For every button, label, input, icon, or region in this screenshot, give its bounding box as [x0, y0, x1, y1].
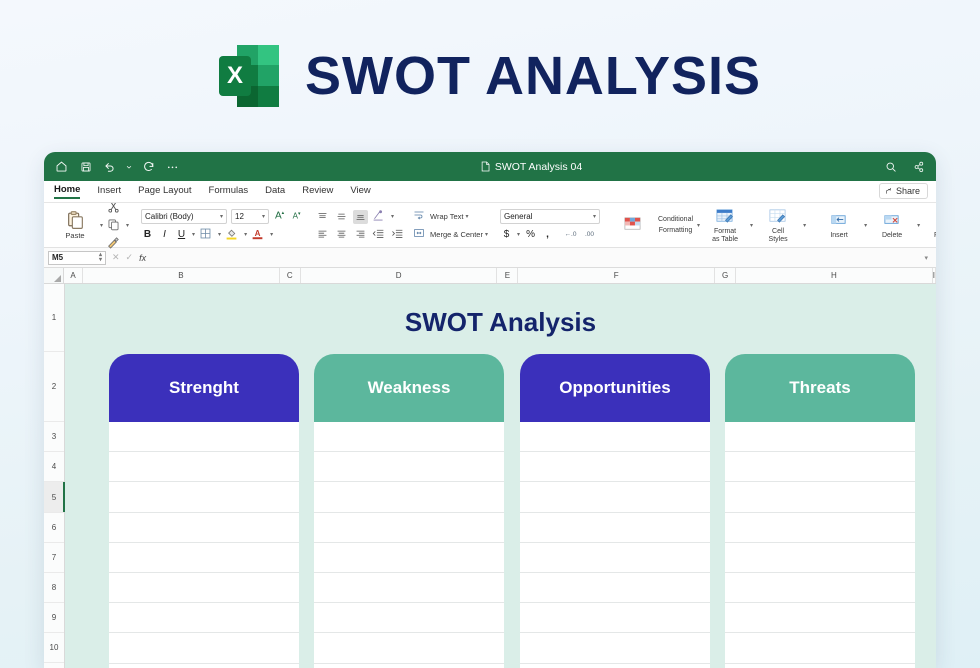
swot-card-strength[interactable]: Strenght — [109, 354, 299, 668]
tab-page-layout[interactable]: Page Layout — [138, 185, 191, 198]
tab-formulas[interactable]: Formulas — [209, 185, 249, 198]
wrap-text-label: Wrap Text — [430, 212, 464, 221]
currency-button[interactable]: $ — [500, 229, 513, 240]
swot-line[interactable] — [520, 513, 710, 543]
title-bar: SWOT Analysis 04 — [44, 152, 936, 181]
swot-line[interactable] — [725, 513, 915, 543]
name-box[interactable]: M5 ▴▾ — [48, 251, 106, 265]
row-header-5[interactable]: 5 — [44, 482, 64, 513]
delete-cells-label: Delete — [882, 232, 902, 240]
column-header-b[interactable]: B — [83, 268, 280, 283]
insert-cells-chevron-down-icon[interactable]: ▾ — [864, 222, 867, 229]
format-cells-icon — [935, 211, 936, 232]
merge-center-button[interactable]: Merge & Center ▾ — [413, 227, 488, 242]
swot-card-threats-lines[interactable] — [725, 422, 915, 668]
share-button[interactable]: Share — [879, 183, 928, 199]
swot-line[interactable] — [109, 573, 299, 603]
indent-row — [372, 227, 406, 242]
number-format-select[interactable]: General ▾ — [500, 209, 600, 224]
redo-icon[interactable] — [141, 159, 156, 174]
font-family-select[interactable]: Calibri (Body) ▾ — [141, 209, 227, 224]
name-box-value: M5 — [52, 253, 63, 262]
font-controls: Calibri (Body) ▾ 12 ▾ A▴ A▾ B I U ▾ — [141, 209, 303, 242]
conditional-formatting-chevron-down-icon[interactable]: ▾ — [697, 222, 700, 229]
svg-text:A: A — [255, 228, 261, 237]
svg-text:X: X — [227, 62, 243, 89]
tab-data[interactable]: Data — [265, 185, 285, 198]
orientation-icon[interactable] — [372, 209, 387, 224]
insert-cells-icon — [829, 211, 850, 232]
cancel-formula-button[interactable]: ✕ — [112, 252, 120, 263]
row-header-7[interactable]: 7 — [44, 543, 64, 573]
increase-indent-icon[interactable] — [391, 227, 406, 242]
conditional-formatting-label-1: Conditional — [658, 216, 693, 224]
wrap-text-icon — [413, 209, 428, 224]
wrap-text-button[interactable]: Wrap Text ▾ — [413, 209, 488, 224]
copy-chevron-down-icon[interactable]: ▾ — [126, 222, 129, 229]
tab-review[interactable]: Review — [302, 185, 333, 198]
swot-line[interactable] — [109, 452, 299, 482]
row-header-9[interactable]: 9 — [44, 603, 64, 633]
bottom-align-button[interactable] — [353, 210, 368, 224]
tab-insert[interactable]: Insert — [97, 185, 121, 198]
swot-line[interactable] — [725, 543, 915, 573]
orientation-indent: ▾ — [372, 209, 406, 242]
cell-styles-chevron-down-icon[interactable]: ▾ — [803, 222, 806, 229]
font-bottom-row: B I U ▾ ▾ ▾ — [141, 227, 303, 242]
swot-line[interactable] — [314, 482, 504, 512]
swot-card-threats-header: Threats — [725, 354, 915, 422]
delete-cells-chevron-down-icon[interactable]: ▾ — [917, 222, 920, 229]
excel-window: SWOT Analysis 04 Home Insert Page Layout… — [44, 152, 936, 668]
formula-bar-expand-chevron-down-icon[interactable]: ▾ — [924, 254, 932, 262]
copy-row: ▾ — [107, 218, 129, 233]
column-header-e[interactable]: E — [497, 268, 518, 283]
top-align-button[interactable] — [315, 210, 330, 224]
ribbon-group-number: General ▾ $ ▾ % , ←.0 .00 — [494, 205, 606, 245]
share-label: Share — [896, 186, 920, 196]
align-right-button[interactable] — [353, 227, 368, 241]
ribbon-group-alignment: ▾ Wrap Text ▾ — [309, 205, 494, 245]
tab-view[interactable]: View — [350, 185, 370, 198]
column-header-d[interactable]: D — [301, 268, 498, 283]
document-title: SWOT Analysis 04 — [495, 161, 582, 173]
fill-color-chevron-down-icon[interactable]: ▾ — [244, 231, 247, 238]
formula-bar: M5 ▴▾ ✕ ✓ fx ▾ — [44, 248, 936, 268]
font-color-chevron-down-icon[interactable]: ▾ — [270, 231, 273, 238]
conditional-formatting-icon — [623, 215, 644, 236]
swot-line[interactable] — [520, 422, 710, 452]
swot-card-weakness-lines[interactable] — [314, 422, 504, 668]
italic-button[interactable]: I — [158, 229, 171, 240]
undo-chevron-down-icon[interactable] — [126, 159, 132, 174]
cell-styles-label-2: Styles — [769, 236, 788, 244]
more-icon[interactable] — [165, 159, 180, 174]
cell-styles-icon — [768, 207, 789, 228]
grid-body: 1 2 3 4 5 6 7 8 9 10 SWOT Analysis Stren… — [44, 284, 936, 668]
swot-card-strength-lines[interactable] — [109, 422, 299, 668]
font-top-row: Calibri (Body) ▾ 12 ▾ A▴ A▾ — [141, 209, 303, 224]
swot-sheet-title: SWOT Analysis — [65, 307, 936, 338]
paste-label: Paste — [65, 231, 84, 240]
swot-card-strength-header: Strenght — [109, 354, 299, 422]
wrap-merge: Wrap Text ▾ Merge & Center ▾ — [413, 209, 488, 242]
document-title-area: SWOT Analysis 04 — [180, 161, 883, 173]
column-header-h[interactable]: H — [736, 268, 933, 283]
row-header-1[interactable]: 1 — [44, 284, 64, 352]
wrap-text-chevron-down-icon: ▾ — [466, 213, 469, 220]
save-icon[interactable] — [78, 159, 93, 174]
swot-line[interactable] — [314, 573, 504, 603]
vertical-align-row — [315, 210, 368, 224]
ribbon-group-styles: Conditional Formatting ▾ Format as Table… — [606, 205, 812, 245]
increase-decimal-icon[interactable]: ←.0 — [564, 227, 579, 242]
clipboard-small-buttons: ▾ — [107, 200, 129, 251]
worksheet-canvas[interactable]: SWOT Analysis Strenght Weakness — [65, 284, 936, 668]
ribbon-group-font: Calibri (Body) ▾ 12 ▾ A▴ A▾ B I U ▾ — [135, 205, 309, 245]
number-format-value: General — [504, 212, 532, 221]
svg-text:.00: .00 — [585, 230, 594, 237]
ribbon: Paste ▾ ▾ — [44, 203, 936, 248]
format-painter-icon[interactable] — [107, 236, 122, 251]
conditional-formatting-button[interactable] — [612, 215, 654, 236]
swot-line[interactable] — [520, 633, 710, 663]
merge-center-label: Merge & Center — [430, 230, 483, 239]
row-header-8[interactable]: 8 — [44, 573, 64, 603]
font-size-chevron-down-icon: ▾ — [262, 213, 265, 220]
insert-cells-label: Insert — [830, 232, 848, 240]
font-size-select[interactable]: 12 ▾ — [231, 209, 269, 224]
row-header-6[interactable]: 6 — [44, 513, 64, 543]
column-header-i[interactable]: I — [933, 268, 936, 283]
paste-button[interactable]: Paste — [54, 210, 96, 240]
number-controls: General ▾ $ ▾ % , ←.0 .00 — [500, 209, 600, 242]
quick-access-toolbar — [54, 159, 180, 174]
search-icon[interactable] — [883, 159, 898, 174]
format-as-table-button[interactable]: Format as Table — [704, 207, 746, 244]
increase-font-size-button[interactable]: A▴ — [273, 210, 286, 221]
column-header-c[interactable]: C — [280, 268, 301, 283]
format-as-table-chevron-down-icon[interactable]: ▾ — [750, 222, 753, 229]
swot-card-weakness-header: Weakness — [314, 354, 504, 422]
number-format-chevron-down-icon: ▾ — [593, 213, 596, 220]
swot-line[interactable] — [725, 422, 915, 452]
borders-icon[interactable] — [199, 227, 214, 242]
font-family-chevron-down-icon: ▾ — [220, 213, 223, 220]
orientation-row: ▾ — [372, 209, 406, 224]
cell-styles-button[interactable]: Cell Styles — [757, 207, 799, 244]
swot-line[interactable] — [725, 633, 915, 663]
column-header-g[interactable]: G — [715, 268, 736, 283]
swot-line[interactable] — [109, 633, 299, 663]
swot-line[interactable] — [520, 543, 710, 573]
decrease-decimal-icon[interactable]: .00 — [583, 227, 598, 242]
align-left-button[interactable] — [315, 227, 330, 241]
conditional-formatting-label-col: Conditional Formatting — [658, 216, 693, 235]
enter-formula-button[interactable]: ✓ — [126, 252, 134, 263]
swot-line[interactable] — [520, 482, 710, 512]
column-headers: A B C D E F G H I — [44, 268, 936, 284]
share-icon — [885, 187, 893, 195]
collaborate-icon[interactable] — [911, 159, 926, 174]
swot-line[interactable] — [725, 452, 915, 482]
column-header-a[interactable]: A — [64, 268, 83, 283]
align-center-button[interactable] — [334, 227, 349, 241]
middle-align-button[interactable] — [334, 210, 349, 224]
swot-line[interactable] — [109, 482, 299, 512]
row-header-10[interactable]: 10 — [44, 633, 64, 663]
format-as-table-icon — [715, 207, 736, 228]
font-size-value: 12 — [235, 212, 244, 221]
row-header-4[interactable]: 4 — [44, 452, 64, 482]
swot-line[interactable] — [725, 573, 915, 603]
swot-line[interactable] — [314, 513, 504, 543]
orientation-chevron-down-icon[interactable]: ▾ — [391, 213, 394, 220]
swot-line[interactable] — [314, 603, 504, 633]
row-header-3[interactable]: 3 — [44, 422, 64, 452]
swot-line[interactable] — [109, 603, 299, 633]
ribbon-group-clipboard: Paste ▾ ▾ — [48, 205, 135, 245]
merge-center-icon — [413, 227, 428, 242]
tab-home[interactable]: Home — [54, 184, 80, 199]
swot-line[interactable] — [520, 573, 710, 603]
delete-cells-icon — [882, 211, 903, 232]
swot-line[interactable] — [314, 543, 504, 573]
select-all-corner[interactable] — [44, 268, 64, 283]
swot-line[interactable] — [725, 603, 915, 633]
decrease-font-size-button[interactable]: A▾ — [290, 211, 303, 221]
align-vertical-horizontal — [315, 210, 368, 241]
excel-logo-icon: X — [219, 39, 279, 113]
ribbon-tab-bar: Home Insert Page Layout Formulas Data Re… — [44, 181, 936, 203]
row-headers: 1 2 3 4 5 6 7 8 9 10 — [44, 284, 65, 668]
comma-button[interactable]: , — [541, 229, 554, 240]
swot-line[interactable] — [520, 603, 710, 633]
number-buttons-row: $ ▾ % , ←.0 .00 — [500, 227, 600, 242]
page-header: X SWOT ANALYSIS — [0, 0, 980, 152]
swot-card-opportunities-lines[interactable] — [520, 422, 710, 668]
swot-card-threats[interactable]: Threats — [725, 354, 915, 668]
decrease-indent-icon[interactable] — [372, 227, 387, 242]
conditional-formatting-label-2: Formatting — [658, 227, 693, 235]
name-box-stepper-icon: ▴▾ — [99, 253, 102, 263]
underline-button[interactable]: U — [175, 229, 188, 240]
paste-icon — [65, 210, 86, 231]
format-as-table-label-1: Format — [714, 228, 736, 236]
titlebar-right-group — [883, 159, 926, 174]
insert-cells-button[interactable]: Insert — [818, 211, 860, 240]
swot-line[interactable] — [520, 452, 710, 482]
swot-card-opportunities-header: Opportunities — [520, 354, 710, 422]
page-title: SWOT ANALYSIS — [305, 45, 761, 107]
ribbon-group-cells: Insert ▾ Delete ▾ — [812, 205, 936, 245]
swot-line[interactable] — [109, 513, 299, 543]
format-cells-button[interactable]: Format — [924, 211, 936, 240]
borders-chevron-down-icon[interactable]: ▾ — [218, 231, 221, 238]
currency-chevron-down-icon[interactable]: ▾ — [517, 231, 520, 238]
svg-text:←.0: ←.0 — [565, 230, 577, 237]
column-header-f[interactable]: F — [518, 268, 715, 283]
swot-line[interactable] — [725, 482, 915, 512]
swot-card-opportunities[interactable]: Opportunities — [520, 354, 710, 668]
copy-icon[interactable] — [107, 218, 122, 233]
swot-line[interactable] — [314, 633, 504, 663]
percent-button[interactable]: % — [524, 229, 537, 240]
undo-icon[interactable] — [102, 159, 117, 174]
paste-chevron-down-icon[interactable]: ▾ — [100, 222, 103, 229]
insert-function-button[interactable]: fx — [139, 253, 146, 263]
underline-chevron-down-icon[interactable]: ▾ — [192, 231, 195, 238]
document-icon — [481, 161, 490, 172]
swot-line[interactable] — [109, 543, 299, 573]
row-header-2[interactable]: 2 — [44, 352, 64, 422]
home-icon[interactable] — [54, 159, 69, 174]
swot-card-weakness[interactable]: Weakness — [314, 354, 504, 668]
delete-cells-button[interactable]: Delete — [871, 211, 913, 240]
font-family-value: Calibri (Body) — [145, 212, 193, 221]
bold-button[interactable]: B — [141, 229, 154, 240]
fill-color-icon[interactable] — [225, 227, 240, 242]
format-as-table-label-2: as Table — [712, 236, 738, 244]
swot-line[interactable] — [109, 422, 299, 452]
format-cells-label: Format — [934, 232, 936, 240]
swot-line[interactable] — [314, 422, 504, 452]
merge-center-chevron-down-icon: ▾ — [485, 231, 488, 238]
swot-line[interactable] — [314, 452, 504, 482]
cell-styles-label-1: Cell — [772, 228, 784, 236]
font-color-icon[interactable]: A — [251, 227, 266, 242]
horizontal-align-row — [315, 227, 368, 241]
